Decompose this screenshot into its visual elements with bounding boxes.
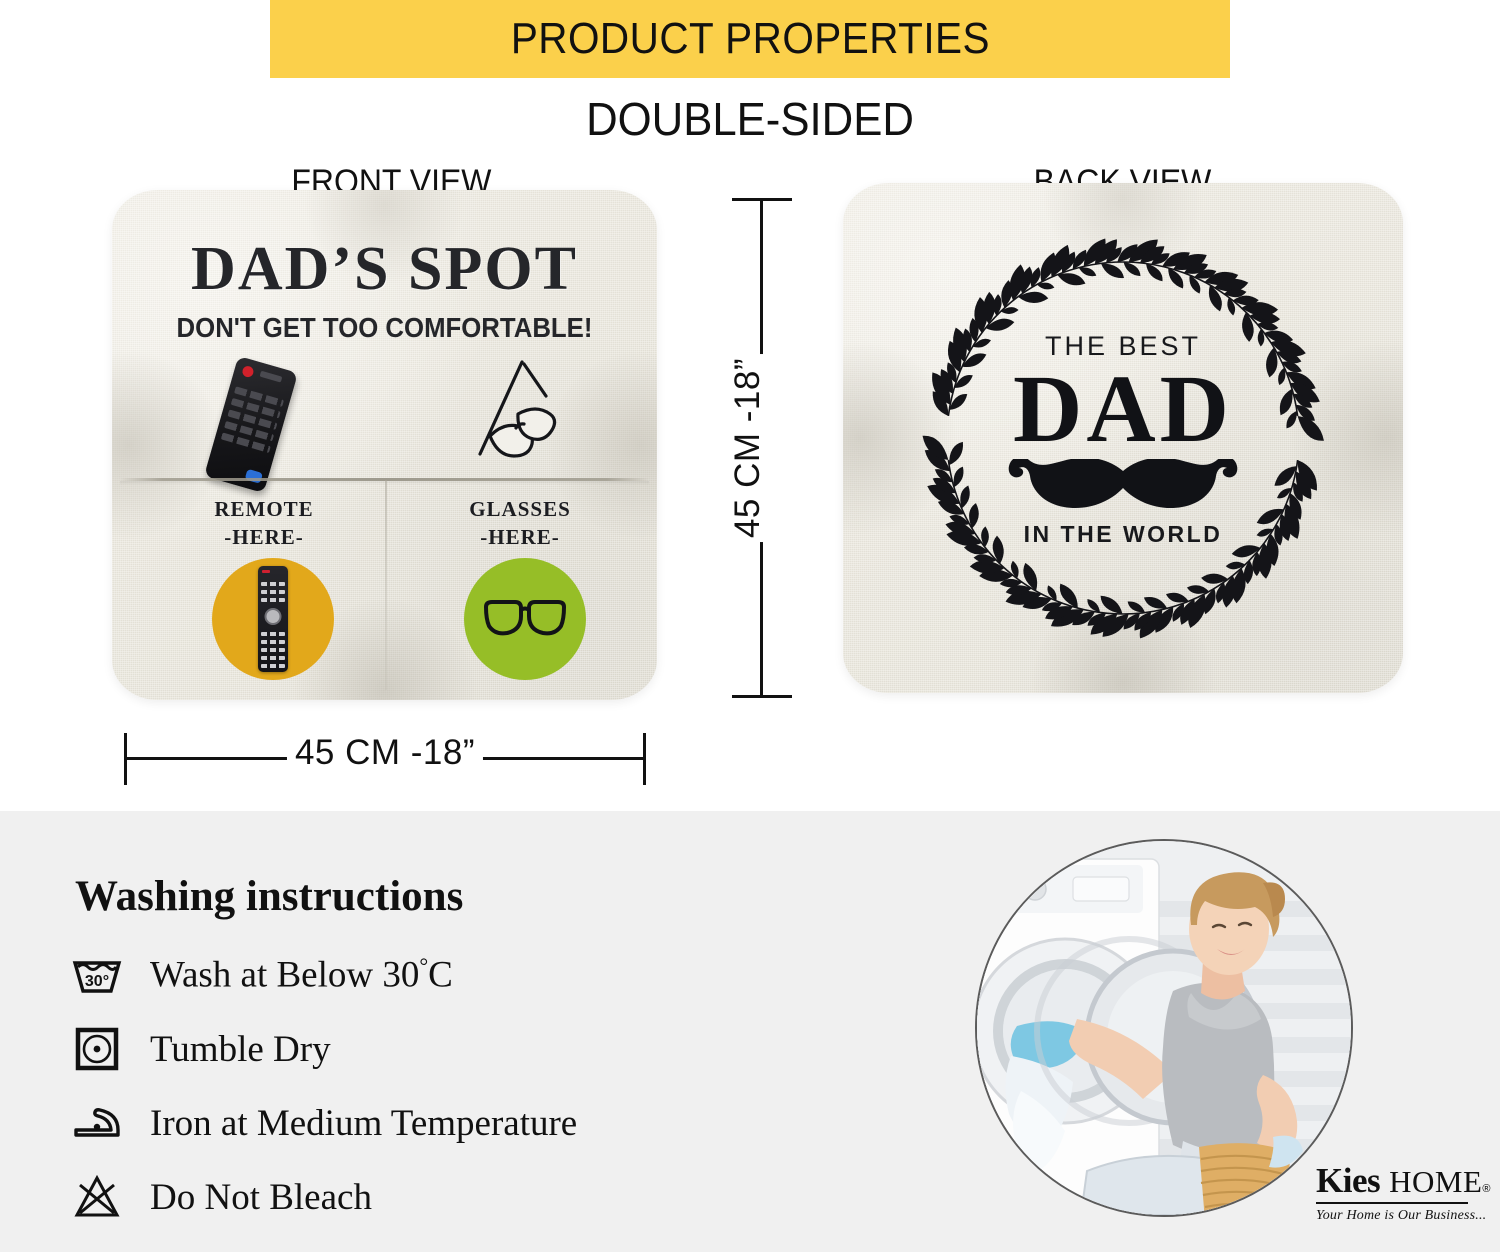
remote-icon-circle	[212, 558, 334, 680]
back-line-3: IN THE WORLD	[908, 521, 1338, 548]
pocket-divider-line	[385, 480, 387, 690]
pocket-label-remote-bottom: -HERE-	[174, 523, 354, 551]
pocket-label-remote-top: REMOTE	[174, 495, 354, 523]
wash-30-icon: 30°	[70, 955, 124, 995]
double-sided-subtitle: DOUBLE-SIDED	[38, 92, 1463, 146]
pocket-label-glasses: GLASSES -HERE-	[430, 495, 610, 551]
tv-remote-icon	[258, 566, 288, 672]
page-title: PRODUCT PROPERTIES	[510, 14, 989, 64]
pillow-front-image: DAD’S SPOT DON'T GET TOO COMFORTABLE!	[112, 190, 657, 700]
laurel-wreath-decoration: THE BEST DAD IN THE WORLD	[908, 223, 1338, 653]
brand-logo: Kies HOME ® Your Home is Our Business...	[1316, 1161, 1491, 1224]
eyeglasses-photo	[460, 350, 560, 468]
product-properties-banner: PRODUCT PROPERTIES	[270, 0, 1230, 78]
washing-instructions-section: Washing instructions 30° Wash at Below 3…	[0, 811, 1500, 1252]
iron-medium-icon	[70, 1105, 124, 1141]
washing-item-label: Iron at Medium Temperature	[150, 1102, 577, 1145]
washing-item: Do Not Bleach	[70, 1160, 750, 1234]
front-headline: DAD’S SPOT	[112, 234, 657, 305]
brand-underline	[1316, 1202, 1468, 1204]
tumble-dry-icon	[70, 1027, 124, 1071]
washing-instructions-list: 30° Wash at Below 30°C Tumble Dry	[70, 938, 750, 1234]
svg-text:30°: 30°	[85, 973, 109, 990]
washing-item-label: Do Not Bleach	[150, 1176, 372, 1219]
brand-name-secondary: HOME	[1389, 1164, 1482, 1200]
do-not-bleach-icon	[70, 1175, 124, 1219]
laundry-photo	[975, 839, 1353, 1217]
height-dimension-label: 45 CM -18”	[722, 354, 774, 542]
registered-trademark-icon: ®	[1482, 1183, 1490, 1195]
washing-item: 30° Wash at Below 30°C	[70, 938, 750, 1012]
pillow-back-image: THE BEST DAD IN THE WORLD	[843, 183, 1403, 693]
washing-instructions-title: Washing instructions	[75, 872, 463, 921]
washing-item: Iron at Medium Temperature	[70, 1086, 750, 1160]
brand-tagline: Your Home is Our Business...	[1316, 1208, 1491, 1224]
washing-item-label: Wash at Below 30°C	[150, 953, 453, 996]
pocket-label-glasses-top: GLASSES	[430, 495, 610, 523]
washing-item-label: Tumble Dry	[150, 1028, 331, 1071]
pocket-label-glasses-bottom: -HERE-	[430, 523, 610, 551]
eyeglasses-icon	[482, 597, 568, 641]
width-dimension-label: 45 CM -18”	[287, 733, 483, 773]
tv-remote-photo	[204, 356, 298, 493]
mustache-icon	[1005, 459, 1241, 518]
back-line-2: DAD	[908, 359, 1338, 460]
washing-item: Tumble Dry	[70, 1012, 750, 1086]
front-subheadline: DON'T GET TOO COMFORTABLE!	[134, 312, 635, 344]
glasses-icon-circle	[464, 558, 586, 680]
brand-name-primary: Kies	[1316, 1161, 1380, 1201]
pocket-label-remote: REMOTE -HERE-	[174, 495, 354, 551]
